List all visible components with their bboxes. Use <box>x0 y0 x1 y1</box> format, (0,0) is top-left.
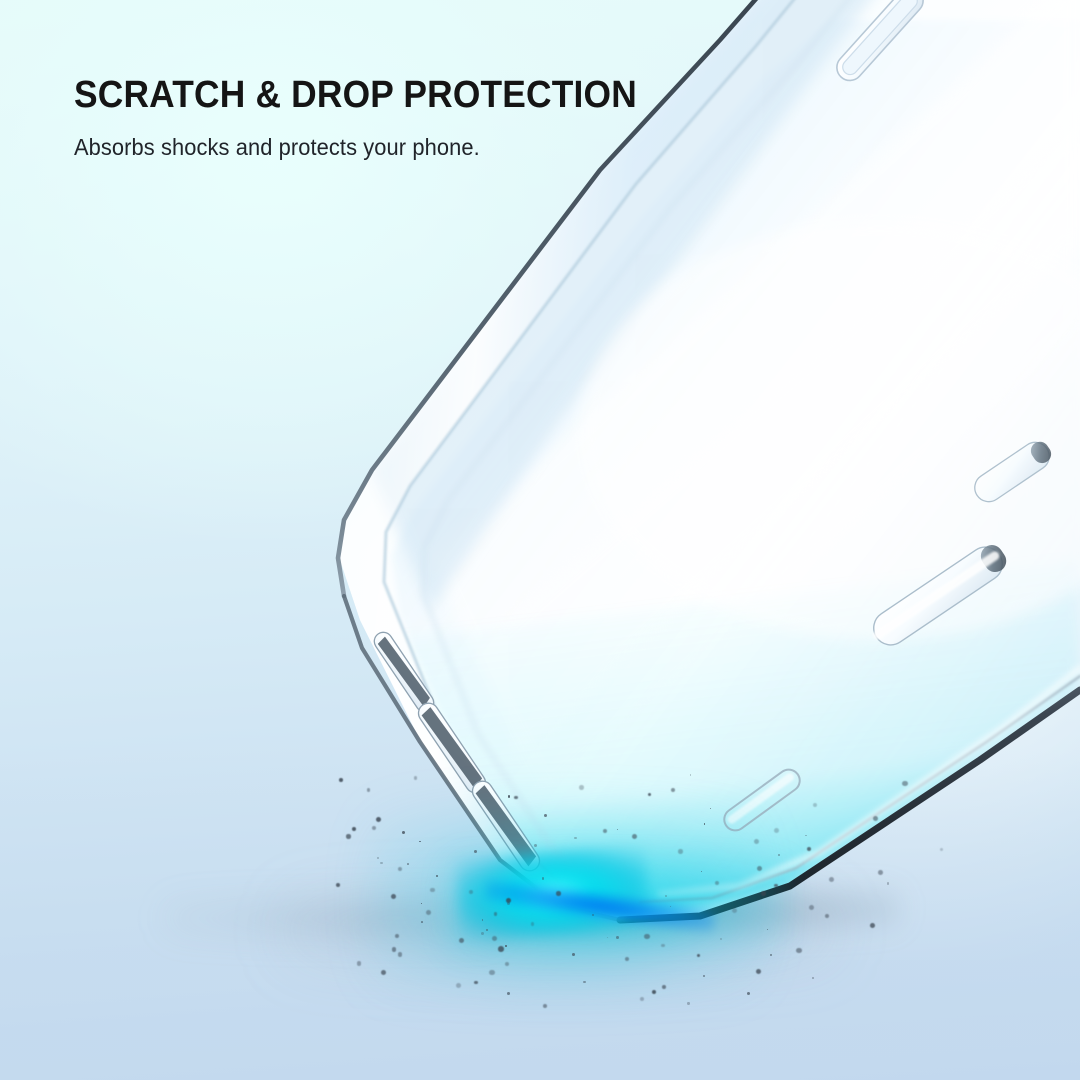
contact-shadow <box>480 885 901 938</box>
dust-particle <box>583 981 586 984</box>
mute-switch-cutout <box>371 629 437 715</box>
dust-particle <box>796 948 801 953</box>
phone-case-illustration <box>0 0 1080 1080</box>
dust-particle <box>474 981 478 985</box>
dust-particle <box>761 891 766 896</box>
dust-particle <box>878 870 883 875</box>
headline-block: SCRATCH & DROP PROTECTION Absorbs shocks… <box>74 76 679 161</box>
dust-particle <box>377 857 379 859</box>
contact-shadow-left <box>165 898 495 938</box>
dust-particle <box>357 961 362 966</box>
dust-particle <box>398 867 402 871</box>
impact-glow-blue-streak <box>484 878 715 934</box>
dust-particle <box>770 954 771 955</box>
bottom-port-cutout <box>720 765 804 835</box>
dust-particle <box>592 914 594 916</box>
dust-particle <box>498 946 504 952</box>
dust-particle <box>436 875 438 877</box>
volume-down-cutout <box>969 436 1056 507</box>
background-floor-sheen <box>0 750 1080 1080</box>
dust-particle <box>710 808 712 810</box>
dust-particle <box>392 947 397 952</box>
dust-particle <box>421 903 422 904</box>
dust-particle <box>489 970 495 976</box>
dust-particle <box>336 883 340 887</box>
dust-particle <box>380 862 383 865</box>
dust-particle <box>556 891 561 896</box>
dust-particle <box>812 977 814 979</box>
dust-particle <box>603 829 607 833</box>
dust-particle <box>757 866 762 871</box>
dust-particle <box>414 776 418 780</box>
case-bottom-glow-tint <box>380 560 1080 922</box>
dust-particle <box>381 970 387 976</box>
dust-particle <box>572 953 575 956</box>
case-hotspot <box>580 220 1080 640</box>
dust-particle <box>665 895 667 897</box>
dust-particle <box>469 890 474 895</box>
dust-particle <box>372 826 376 830</box>
case-rim-bottom-right <box>620 690 1080 920</box>
case-reflection-band <box>470 120 1080 800</box>
dust-particle <box>482 919 484 921</box>
dust-particle <box>474 850 477 853</box>
power-button-cutout <box>832 0 929 86</box>
dust-particle <box>616 936 619 939</box>
side-button-cutout-1 <box>415 699 490 796</box>
page-subtitle: Absorbs shocks and protects your phone. <box>74 134 649 162</box>
dust-particle <box>352 827 356 831</box>
dust-particle <box>426 910 432 916</box>
dust-particle <box>652 990 656 994</box>
promo-image-canvas: SCRATCH & DROP PROTECTION Absorbs shocks… <box>0 0 1080 1080</box>
dust-particle <box>704 823 706 825</box>
case-rim-highlight <box>660 668 1080 894</box>
dust-particle <box>873 816 878 821</box>
dust-particle <box>398 952 402 956</box>
dust-particle <box>508 795 511 798</box>
dust-particle <box>486 929 488 931</box>
dust-particle <box>774 884 778 888</box>
dust-particle <box>419 841 420 842</box>
dust-particle <box>607 937 609 939</box>
dust-particle <box>644 934 649 939</box>
dust-particle <box>507 992 510 995</box>
dust-particle <box>687 1002 689 1004</box>
dust-particle <box>813 803 817 807</box>
dust-particle <box>514 796 518 800</box>
dust-particle <box>367 788 371 792</box>
dust-particle <box>778 854 780 856</box>
dust-particle <box>505 945 507 947</box>
dust-particle <box>697 954 701 958</box>
scattered-dust-particles <box>0 0 1080 1080</box>
dust-particle <box>391 894 396 899</box>
volume-up-cutout <box>865 538 1012 652</box>
case-rim-bottom-left <box>344 596 620 920</box>
dust-particle <box>756 969 761 974</box>
dust-particle <box>671 788 675 792</box>
dust-particle <box>805 835 806 836</box>
dust-particle <box>829 877 834 882</box>
dust-particle <box>339 778 343 782</box>
dust-particle <box>720 938 723 941</box>
dust-particle <box>678 849 683 854</box>
dust-particle <box>825 914 829 918</box>
phone-case-product <box>0 0 1080 1080</box>
dust-particle <box>492 936 497 941</box>
dust-particle <box>481 932 484 935</box>
dust-particle <box>395 934 399 938</box>
dust-particle <box>690 774 691 775</box>
dust-particle <box>754 839 759 844</box>
dust-particle <box>579 785 584 790</box>
dust-particle <box>715 881 719 885</box>
dust-particle <box>732 908 737 913</box>
dust-particle <box>767 929 769 931</box>
case-corner-contact-shine <box>538 880 630 919</box>
dust-particle <box>407 863 409 865</box>
dust-particle <box>543 1004 547 1008</box>
dust-particle <box>632 834 637 839</box>
impact-glow-core <box>455 844 650 941</box>
dust-particle <box>661 944 665 948</box>
page-title: SCRATCH & DROP PROTECTION <box>74 76 637 116</box>
dust-particle <box>531 922 535 926</box>
contact-shadow-soft <box>280 885 840 975</box>
dust-particle <box>430 888 434 892</box>
dust-particle <box>774 828 779 833</box>
dust-particle <box>807 847 811 851</box>
dust-particle <box>534 844 537 847</box>
dust-particle <box>346 834 350 838</box>
dust-particle <box>940 848 944 852</box>
dust-particle <box>747 992 750 995</box>
impact-glow-halo <box>365 805 765 995</box>
background-highlight-right <box>500 60 1080 960</box>
dust-particle <box>421 921 423 923</box>
dust-particle <box>640 997 644 1001</box>
impact-glow-spread <box>450 857 790 953</box>
dust-particle <box>625 957 629 961</box>
dust-particle <box>887 882 889 884</box>
dust-particle <box>542 877 544 879</box>
dust-particle <box>402 831 405 834</box>
dust-particle <box>809 905 814 910</box>
dust-particle <box>703 975 705 977</box>
dust-particle <box>459 938 464 943</box>
dust-particle <box>902 781 907 786</box>
dust-particle <box>376 817 381 822</box>
dust-particle <box>507 902 510 905</box>
dust-particle <box>617 829 618 830</box>
case-rim-bottom-right-inner <box>640 676 1080 902</box>
dust-particle <box>648 793 652 797</box>
dust-particle <box>506 898 511 903</box>
dust-particle <box>870 923 875 928</box>
dust-particle <box>456 983 461 988</box>
dust-particle <box>670 906 671 907</box>
dust-particle <box>544 814 547 817</box>
dust-particle <box>494 912 498 916</box>
dust-particle <box>701 871 702 872</box>
dust-particle <box>505 962 509 966</box>
dust-particle <box>662 985 666 989</box>
side-button-cutout-2 <box>469 777 544 874</box>
dust-particle <box>574 837 577 840</box>
